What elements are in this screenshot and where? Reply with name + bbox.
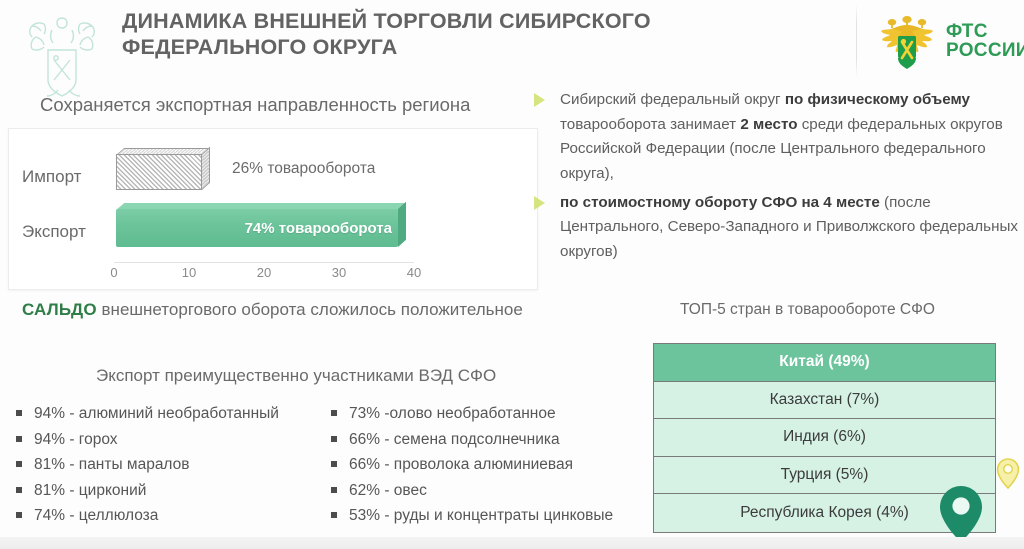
export-list-column-right: 73% -олово необработанное 66% - семена п… <box>331 405 646 533</box>
list-item-label: 94% - алюминий необработанный <box>34 405 279 423</box>
table-row: Китай (49%) <box>654 344 995 382</box>
chart-x-axis-ticks: 0 10 20 30 40 <box>84 265 444 283</box>
triangle-bullet-icon <box>534 196 545 210</box>
table-cell-country: Турция (5%) <box>781 466 869 484</box>
table-row: Казахстан (7%) <box>654 382 995 420</box>
fts-eagle-logo-icon <box>876 10 938 72</box>
key-fact-text: по стоимостному обороту СФО на 4 месте (… <box>560 194 1018 260</box>
square-bullet-icon <box>331 436 337 442</box>
square-bullet-icon <box>331 512 337 518</box>
list-item: 53% - руды и концентраты цинковые <box>331 507 646 525</box>
table-cell-country: Китай (49%) <box>779 353 869 371</box>
bar-import-front-face <box>116 154 202 190</box>
chart-bar-export: 74% товарооборота <box>116 203 406 247</box>
export-list-column-left: 94% - алюминий необработанный 94% - горо… <box>16 405 331 533</box>
square-bullet-icon <box>16 512 22 518</box>
list-item: 81% - цирконий <box>16 482 331 500</box>
saldo-rest: внешнеторгового оборота сложилось положи… <box>97 300 523 319</box>
list-item-label: 73% -олово необработанное <box>349 405 556 423</box>
table-cell-country: Республика Корея (4%) <box>740 504 909 522</box>
saldo-statement: САЛЬДО внешнеторгового оборота сложилось… <box>22 300 523 320</box>
chart-subtitle: Сохраняется экспортная направленность ре… <box>40 93 520 116</box>
export-list-heading: Экспорт преимущественно участниками ВЭД … <box>96 366 496 386</box>
header-divider <box>856 4 857 78</box>
x-tick-2: 20 <box>249 265 279 280</box>
list-item: 74% - целлюлоза <box>16 507 331 525</box>
square-bullet-icon <box>331 487 337 493</box>
list-item-label: 66% - проволока алюминиевая <box>349 456 573 474</box>
square-bullet-icon <box>16 410 22 416</box>
square-bullet-icon <box>331 410 337 416</box>
chart-x-axis-line <box>114 262 414 263</box>
russian-coat-of-arms-icon <box>14 4 110 100</box>
map-pin-outline-icon <box>996 458 1020 489</box>
bar-export-side-face <box>398 202 406 247</box>
chart-category-import: Импорт <box>22 167 81 187</box>
list-item-label: 53% - руды и концентраты цинковые <box>349 507 613 525</box>
chart-import-value-label: 26% товарооборота <box>232 160 375 178</box>
list-item-label: 62% - овес <box>349 482 427 500</box>
square-bullet-icon <box>16 487 22 493</box>
page-title: ДИНАМИКА ВНЕШНЕЙ ТОРГОВЛИ СИБИРСКОГО ФЕД… <box>122 8 822 60</box>
list-item: 66% - проволока алюминиевая <box>331 456 646 474</box>
footer-band <box>0 537 1024 549</box>
table-row: Индия (6%) <box>654 419 995 457</box>
key-facts-list: Сибирский федеральный округ по физическо… <box>534 88 1020 268</box>
square-bullet-icon <box>16 436 22 442</box>
table-cell-country: Казахстан (7%) <box>770 391 880 409</box>
saldo-keyword: САЛЬДО <box>22 300 97 319</box>
chart-bar-import <box>116 148 210 190</box>
list-item: 94% - алюминий необработанный <box>16 405 331 423</box>
list-item: 66% - семена подсолнечника <box>331 431 646 449</box>
x-tick-4: 40 <box>399 265 429 280</box>
slide-header: ДИНАМИКА ВНЕШНЕЙ ТОРГОВЛИ СИБИРСКОГО ФЕД… <box>0 0 1024 86</box>
fts-logo-line2: РОССИИ <box>946 41 1024 60</box>
export-commodities-lists: 94% - алюминий необработанный 94% - горо… <box>16 405 646 533</box>
fts-logo-text: ФТС РОССИИ <box>946 22 1024 61</box>
key-fact-item: по стоимостному обороту СФО на 4 месте (… <box>534 191 1020 265</box>
key-fact-text: Сибирский федеральный округ по физическо… <box>560 91 1003 182</box>
bar-import-side-face <box>202 147 210 190</box>
list-item: 81% - панты маралов <box>16 456 331 474</box>
chart-export-value-label: 74% товарооборота <box>245 209 392 247</box>
x-tick-0: 0 <box>99 265 129 280</box>
slide-root: ДИНАМИКА ВНЕШНЕЙ ТОРГОВЛИ СИБИРСКОГО ФЕД… <box>0 0 1024 549</box>
list-item-label: 66% - семена подсолнечника <box>349 431 560 449</box>
fts-logo-line1: ФТС <box>946 22 1024 41</box>
map-pin-icon <box>938 485 984 543</box>
x-tick-3: 30 <box>324 265 354 280</box>
fts-logo: ФТС РОССИИ <box>876 10 1024 72</box>
list-item-label: 81% - цирконий <box>34 482 146 500</box>
x-tick-1: 10 <box>174 265 204 280</box>
top5-heading: ТОП-5 стран в товарообороте СФО <box>680 301 935 319</box>
list-item-label: 81% - панты маралов <box>34 456 190 474</box>
square-bullet-icon <box>331 461 337 467</box>
list-item: 62% - овес <box>331 482 646 500</box>
triangle-bullet-icon <box>534 93 545 107</box>
list-item-label: 74% - целлюлоза <box>34 507 158 525</box>
chart-category-export: Экспорт <box>22 222 86 242</box>
list-item: 73% -олово необработанное <box>331 405 646 423</box>
list-item: 94% - горох <box>16 431 331 449</box>
list-item-label: 94% - горох <box>34 431 118 449</box>
table-cell-country: Индия (6%) <box>783 428 866 446</box>
square-bullet-icon <box>16 461 22 467</box>
key-fact-item: Сибирский федеральный округ по физическо… <box>534 88 1020 187</box>
